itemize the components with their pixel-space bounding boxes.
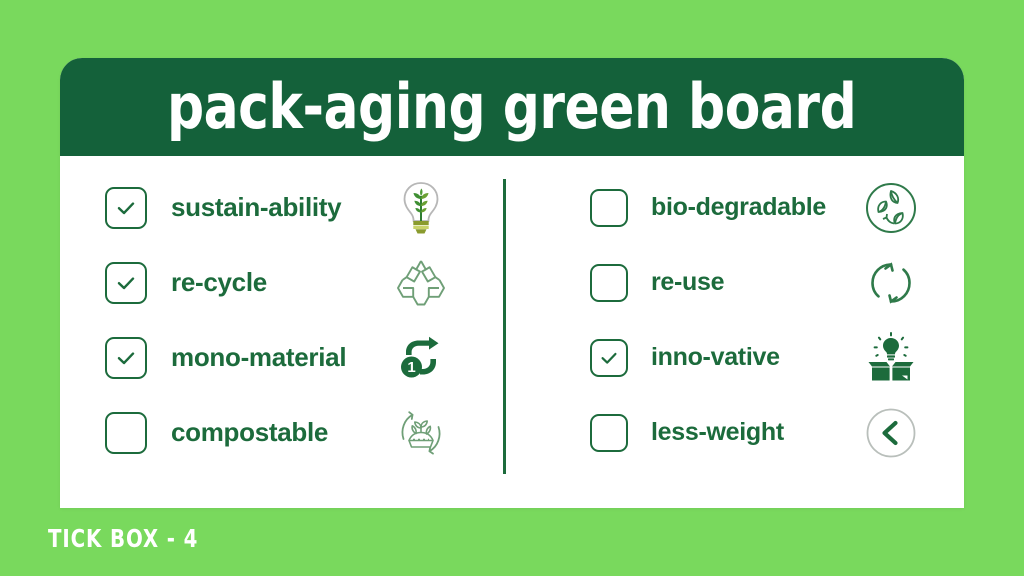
check-mark-icon — [114, 196, 138, 220]
checkbox-bio-degradable[interactable] — [590, 189, 628, 227]
list-item-label: mono-material — [171, 342, 346, 373]
compost-plants-icon — [392, 404, 450, 462]
recycle-triangle-icon — [392, 254, 450, 312]
list-item-label: re-cycle — [171, 267, 267, 298]
list-item-label: compostable — [171, 417, 328, 448]
check-mark-icon — [598, 347, 620, 369]
checkbox-re-cycle[interactable] — [105, 262, 147, 304]
svg-text:1: 1 — [407, 359, 415, 376]
card-header: pack-aging green board — [60, 58, 964, 156]
checklist-column-left: sustain-ability — [60, 156, 512, 508]
checkbox-sustain-ability[interactable] — [105, 187, 147, 229]
checkbox-re-use[interactable] — [590, 264, 628, 302]
check-mark-icon — [114, 271, 138, 295]
list-item[interactable]: inno-vative — [590, 320, 964, 395]
list-item-label: inno-vative — [651, 343, 780, 372]
list-item[interactable]: compostable — [105, 395, 512, 470]
checkbox-less-weight[interactable] — [590, 414, 628, 452]
page-title: pack-aging green board — [167, 76, 856, 138]
checkbox-compostable[interactable] — [105, 412, 147, 454]
open-box-lightbulb-icon — [862, 329, 920, 387]
checkbox-mono-material[interactable] — [105, 337, 147, 379]
list-item[interactable]: bio-degradable — [590, 170, 964, 245]
footer-caption: TICK BOX - 4 — [48, 524, 198, 553]
list-item[interactable]: mono-material 1 — [105, 320, 512, 395]
checklist-card: pack-aging green board sustain-ability — [60, 58, 964, 508]
lightbulb-plant-icon — [392, 179, 450, 237]
list-item[interactable]: re-use — [590, 245, 964, 320]
list-item[interactable]: less-weight — [590, 395, 964, 470]
list-item[interactable]: sustain-ability — [105, 170, 512, 245]
single-material-loop-icon: 1 — [392, 329, 450, 387]
list-item-label: sustain-ability — [171, 192, 341, 223]
list-item-label: less-weight — [651, 418, 784, 447]
list-item-label: bio-degradable — [651, 193, 826, 222]
list-item-label: re-use — [651, 268, 724, 297]
chevron-left-circle-icon — [862, 404, 920, 462]
checkbox-inno-vative[interactable] — [590, 339, 628, 377]
checklist-column-right: bio-degradable — [512, 156, 964, 508]
check-mark-icon — [114, 346, 138, 370]
column-divider — [503, 179, 506, 474]
card-body: sustain-ability — [60, 156, 964, 508]
list-item[interactable]: re-cycle — [105, 245, 512, 320]
refresh-loop-icon — [862, 254, 920, 312]
leaves-circle-icon — [862, 179, 920, 237]
